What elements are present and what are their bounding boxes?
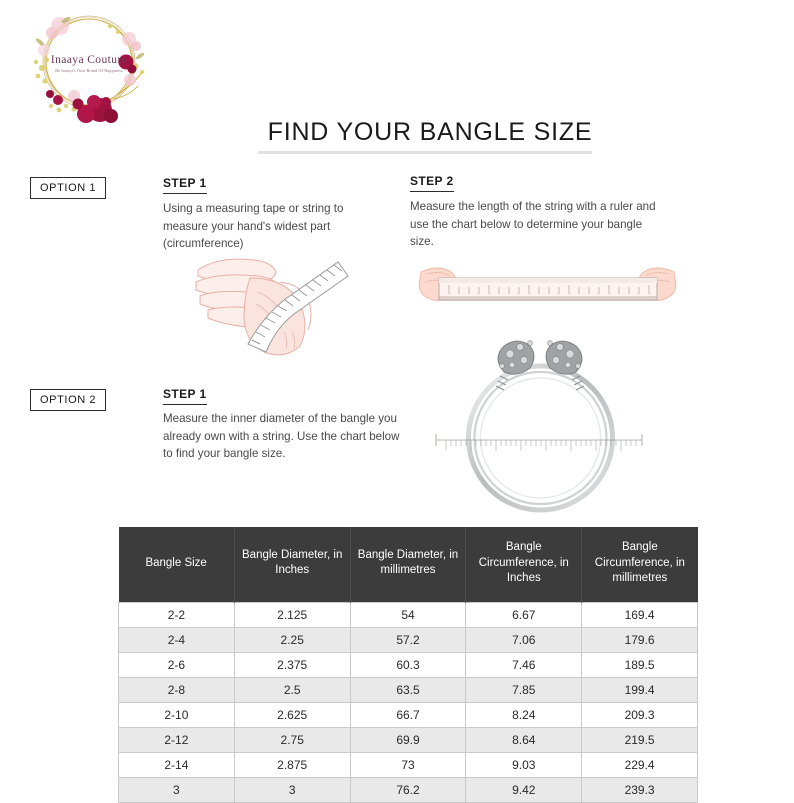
- cell-diameter-in: 2.375: [234, 652, 350, 677]
- hand-with-measuring-tape-illustration: [188, 248, 363, 368]
- option-1-step-1-body: Using a measuring tape or string to meas…: [163, 200, 378, 253]
- option-1-step-2-heading: STEP 2: [410, 174, 454, 192]
- table-row: 2-14 2.875 73 9.03 229.4: [119, 752, 698, 777]
- hands-holding-ruler-illustration: [415, 252, 680, 327]
- cell-diameter-mm: 57.2: [350, 627, 466, 652]
- cell-diameter-mm: 76.2: [350, 777, 466, 802]
- brand-name: Inaaya Couture: [14, 54, 164, 66]
- cell-bangle-size: 2-6: [119, 652, 235, 677]
- floral-wreath-icon: [14, 6, 164, 126]
- cell-circumf-mm: 169.4: [582, 602, 698, 627]
- cell-diameter-mm: 63.5: [350, 677, 466, 702]
- cell-diameter-in: 2.25: [234, 627, 350, 652]
- cell-circumf-in: 7.06: [466, 627, 582, 652]
- bangle-size-table: Bangle Size Bangle Diameter, in Inches B…: [118, 527, 698, 803]
- cell-circumf-mm: 229.4: [582, 752, 698, 777]
- cell-circumf-mm: 239.3: [582, 777, 698, 802]
- cell-diameter-mm: 66.7: [350, 702, 466, 727]
- option-2-step-1-body: Measure the inner diameter of the bangle…: [163, 410, 408, 463]
- cell-diameter-in: 2.125: [234, 602, 350, 627]
- silver-bangle-with-ruler-illustration: [420, 332, 660, 522]
- cell-bangle-size: 2-8: [119, 677, 235, 702]
- option-1-step-2-body: Measure the length of the string with a …: [410, 198, 668, 251]
- option-2-badge: OPTION 2: [30, 389, 106, 411]
- page-title: FIND YOUR BANGLE SIZE: [200, 118, 660, 147]
- cell-diameter-in: 2.625: [234, 702, 350, 727]
- cell-circumf-mm: 189.5: [582, 652, 698, 677]
- table-row: 2-10 2.625 66.7 8.24 209.3: [119, 702, 698, 727]
- cell-diameter-mm: 60.3: [350, 652, 466, 677]
- cell-circumf-mm: 199.4: [582, 677, 698, 702]
- column-header-circumference-inches: Bangle Circumference, in Inches: [466, 527, 582, 602]
- cell-diameter-in: 2.5: [234, 677, 350, 702]
- cell-bangle-size: 2-2: [119, 602, 235, 627]
- cell-circumf-mm: 179.6: [582, 627, 698, 652]
- cell-circumf-in: 7.85: [466, 677, 582, 702]
- column-header-bangle-size: Bangle Size: [119, 527, 235, 602]
- cell-diameter-mm: 73: [350, 752, 466, 777]
- table-row: 2-4 2.25 57.2 7.06 179.6: [119, 627, 698, 652]
- column-header-diameter-millimetres: Bangle Diameter, in millimetres: [350, 527, 466, 602]
- table-header-row: Bangle Size Bangle Diameter, in Inches B…: [119, 527, 698, 602]
- table-row: 2-8 2.5 63.5 7.85 199.4: [119, 677, 698, 702]
- cell-circumf-in: 8.24: [466, 702, 582, 727]
- cell-diameter-mm: 69.9: [350, 727, 466, 752]
- table-row: 3 3 76.2 9.42 239.3: [119, 777, 698, 802]
- cell-circumf-in: 7.46: [466, 652, 582, 677]
- cell-diameter-in: 3: [234, 777, 350, 802]
- title-divider: [258, 151, 592, 154]
- cell-bangle-size: 2-12: [119, 727, 235, 752]
- table-row: 2-6 2.375 60.3 7.46 189.5: [119, 652, 698, 677]
- cell-circumf-in: 8.64: [466, 727, 582, 752]
- cell-diameter-in: 2.75: [234, 727, 350, 752]
- column-header-circumference-millimetres: Bangle Circumference, in millimetres: [582, 527, 698, 602]
- cell-diameter-mm: 54: [350, 602, 466, 627]
- table-row: 2-12 2.75 69.9 8.64 219.5: [119, 727, 698, 752]
- brand-tagline: Be Inaaya's Own Brand Of Happiness: [14, 68, 164, 73]
- option-2-step-1-heading: STEP 1: [163, 387, 207, 405]
- cell-circumf-in: 6.67: [466, 602, 582, 627]
- table-body: 2-2 2.125 54 6.67 169.4 2-4 2.25 57.2 7.…: [119, 602, 698, 802]
- cell-bangle-size: 2-10: [119, 702, 235, 727]
- cell-bangle-size: 2-14: [119, 752, 235, 777]
- cell-circumf-in: 9.03: [466, 752, 582, 777]
- cell-bangle-size: 3: [119, 777, 235, 802]
- brand-logo: Inaaya Couture Be Inaaya's Own Brand Of …: [14, 6, 164, 126]
- cell-bangle-size: 2-4: [119, 627, 235, 652]
- cell-circumf-mm: 209.3: [582, 702, 698, 727]
- cell-circumf-mm: 219.5: [582, 727, 698, 752]
- cell-circumf-in: 9.42: [466, 777, 582, 802]
- cell-diameter-in: 2.875: [234, 752, 350, 777]
- table-row: 2-2 2.125 54 6.67 169.4: [119, 602, 698, 627]
- table-header: Bangle Size Bangle Diameter, in Inches B…: [119, 527, 698, 602]
- option-1-badge: OPTION 1: [30, 177, 106, 199]
- column-header-diameter-inches: Bangle Diameter, in Inches: [234, 527, 350, 602]
- option-1-step-1-heading: STEP 1: [163, 176, 207, 194]
